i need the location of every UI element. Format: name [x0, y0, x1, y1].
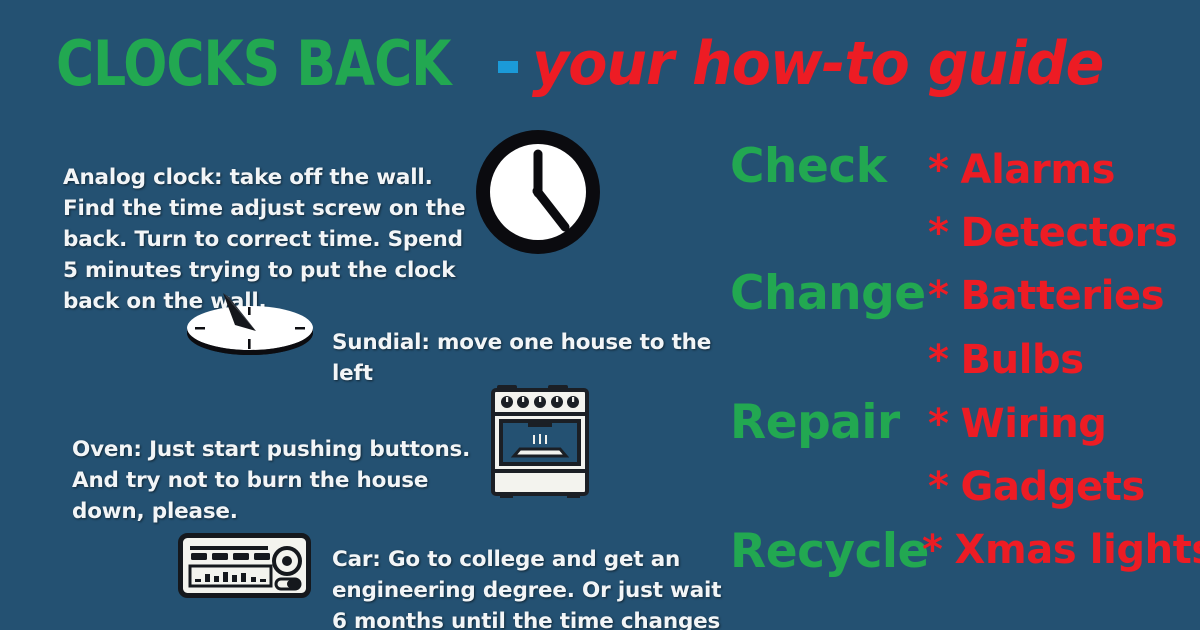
checklist-item-label: Bulbs: [961, 337, 1084, 383]
title-main-text: CLOCKS BACK: [56, 33, 451, 95]
checklist-item-batteries: *Batteries: [928, 276, 1164, 316]
car-stereo-icon: [178, 533, 311, 598]
action-label-repair: Repair: [730, 399, 900, 446]
checklist-item-wiring: *Wiring: [928, 404, 1107, 444]
checklist-item-label: Wiring: [961, 401, 1107, 447]
bullet-star-icon: *: [928, 401, 949, 447]
checklist-item-detectors: *Detectors: [928, 213, 1177, 253]
action-label-recycle: Recycle: [730, 528, 929, 575]
checklist-item-label: Alarms: [961, 147, 1115, 193]
checklist-item-bulbs: *Bulbs: [928, 340, 1084, 380]
oven-icon: [490, 383, 590, 498]
bullet-star-icon: *: [928, 273, 949, 319]
bullet-star-icon: *: [922, 527, 943, 573]
checklist-item-label: Gadgets: [961, 464, 1145, 510]
title-subtitle-text: your how-to guide: [532, 33, 1103, 95]
checklist-item-label: Batteries: [961, 273, 1165, 319]
bullet-star-icon: *: [928, 147, 949, 193]
checklist-item-label: Xmas lights: [955, 527, 1200, 573]
bullet-star-icon: *: [928, 210, 949, 256]
checklist-item-xmas-lights: *Xmas lights: [922, 530, 1200, 570]
checklist-item-gadgets: *Gadgets: [928, 467, 1145, 507]
title-separator-dash: [498, 61, 518, 73]
bullet-star-icon: *: [928, 337, 949, 383]
sundial-icon: [183, 283, 318, 358]
action-label-change: Change: [730, 270, 926, 317]
tip-text-sundial: Sundial: move one house to the left: [332, 327, 732, 389]
tip-text-car: Car: Go to college and get an engineerin…: [332, 544, 722, 630]
checklist-item-alarms: *Alarms: [928, 150, 1115, 190]
poster-canvas: CLOCKS BACK your how-to guide Analog clo…: [0, 0, 1200, 630]
checklist-item-label: Detectors: [961, 210, 1178, 256]
analog-clock-icon: [473, 127, 603, 257]
tip-text-oven: Oven: Just start pushing buttons. And tr…: [72, 434, 472, 527]
page-title: CLOCKS BACK your how-to guide: [56, 26, 1156, 102]
bullet-star-icon: *: [928, 464, 949, 510]
action-label-check: Check: [730, 143, 886, 190]
